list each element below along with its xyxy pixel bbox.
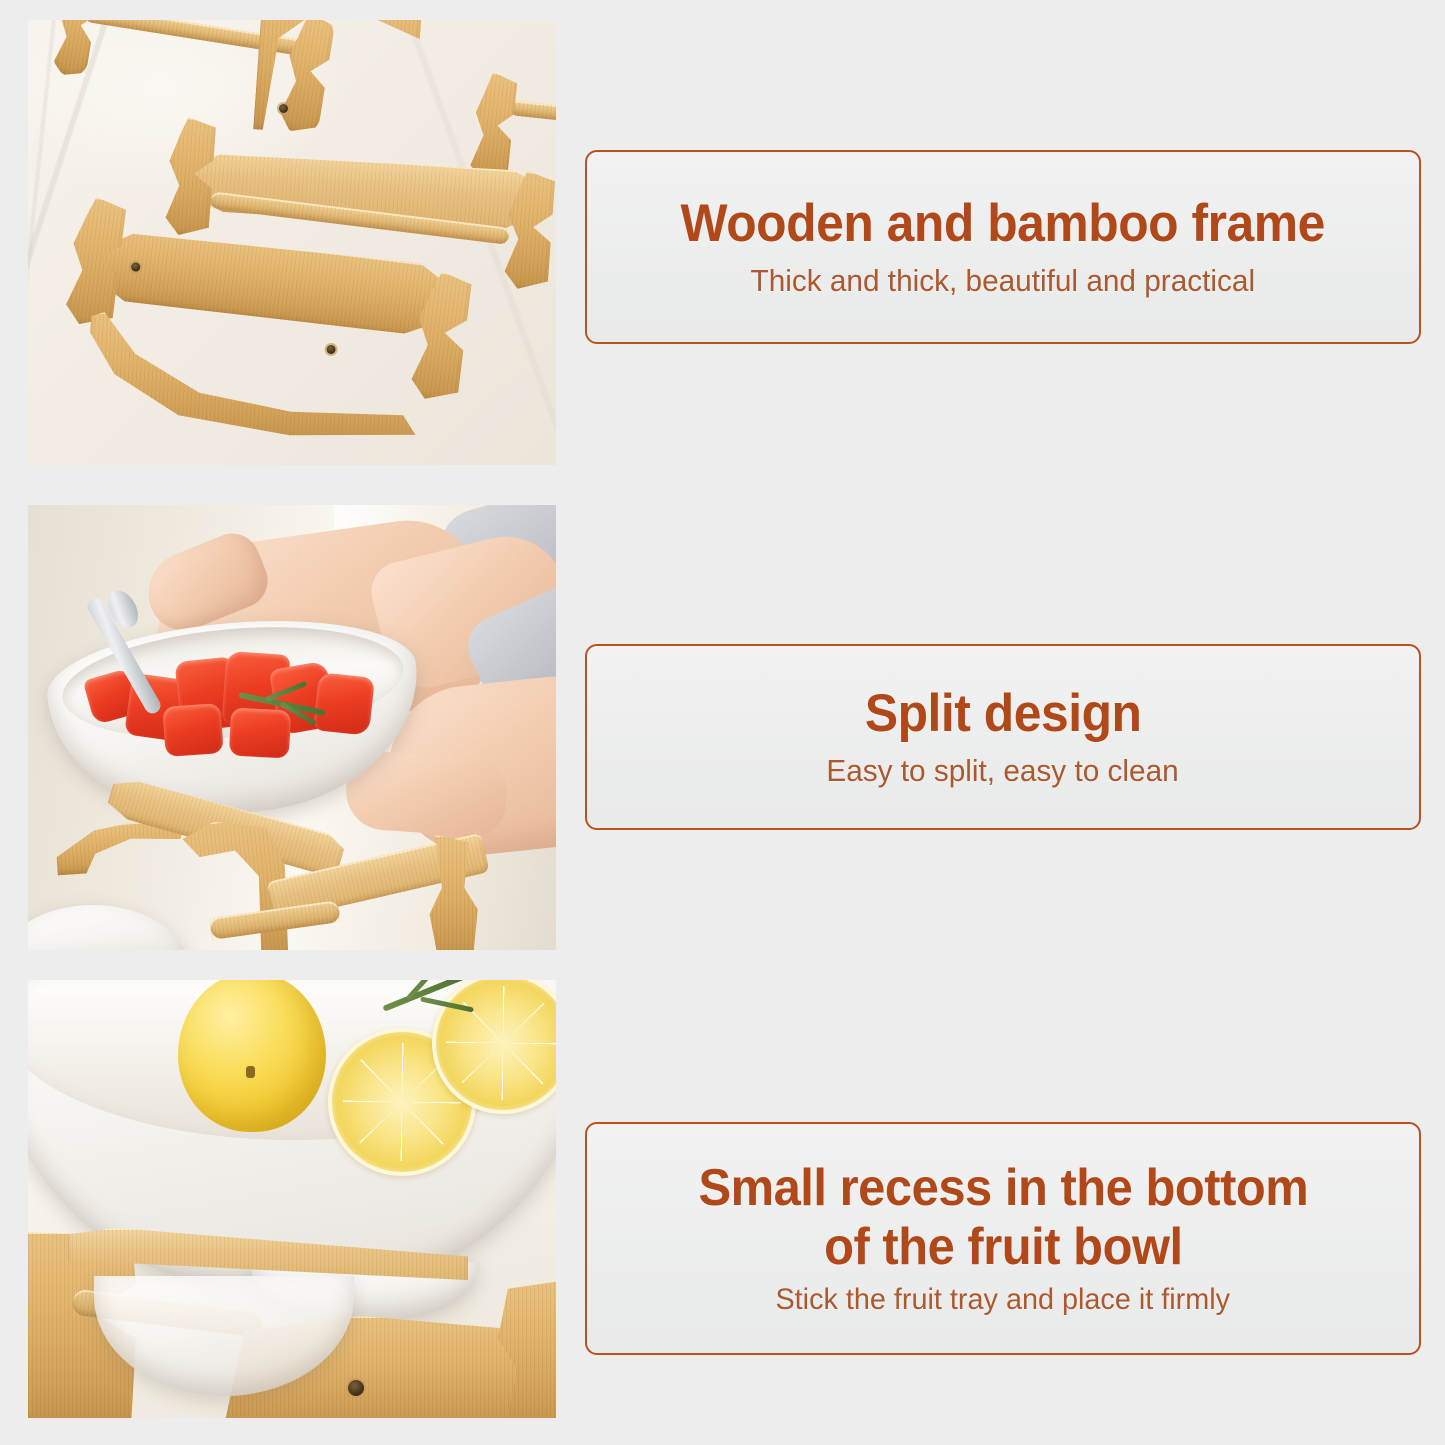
- feature-card-wooden-bamboo-frame: Wooden and bamboo frame Thick and thick,…: [585, 150, 1421, 344]
- lemon-whole: [178, 980, 326, 1132]
- feature-photo-bamboo-frame: [28, 20, 556, 465]
- screw-icon: [326, 344, 336, 354]
- feature-subtitle: Thick and thick, beautiful and practical: [751, 262, 1256, 299]
- lemon-segments: [446, 986, 556, 1100]
- feature-subtitle: Easy to split, easy to clean: [827, 752, 1179, 789]
- feature-photo-recess-bottom: [28, 980, 556, 1418]
- fruit-piece: [162, 703, 223, 757]
- feature-card-split-design: Split design Easy to split, easy to clea…: [585, 644, 1421, 830]
- feature-card-recess-bottom: Small recess in the bottom of the fruit …: [585, 1122, 1421, 1355]
- screw-icon: [348, 1380, 364, 1396]
- feature-title-line-2: of the fruit bowl: [698, 1218, 1308, 1276]
- feature-subtitle: Stick the fruit tray and place it firmly: [776, 1282, 1231, 1318]
- lemon-stem: [246, 1066, 255, 1078]
- feature-title-line-1: Small recess in the bottom: [698, 1159, 1308, 1217]
- product-infographic: Wooden and bamboo frame Thick and thick,…: [0, 0, 1445, 1445]
- feature-photo-split-design: [28, 505, 556, 950]
- fruit-piece: [229, 707, 291, 758]
- fruit-piece: [313, 672, 375, 736]
- screw-icon: [279, 104, 288, 113]
- feature-title: Split design: [865, 685, 1142, 742]
- feature-title: Small recess in the bottom of the fruit …: [698, 1159, 1308, 1275]
- feature-title: Wooden and bamboo frame: [681, 195, 1325, 252]
